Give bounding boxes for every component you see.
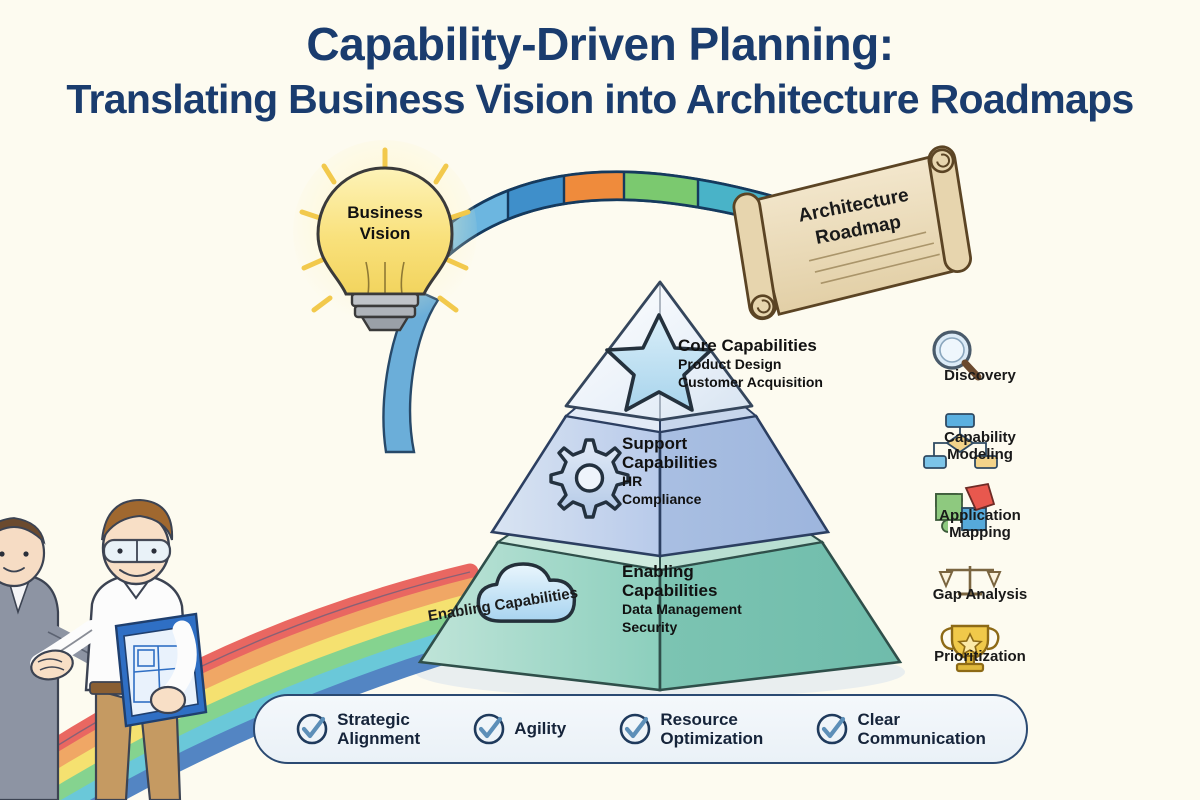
check-circle-icon — [815, 712, 849, 746]
benefit-strategic-alignment-line-2: Alignment — [337, 729, 420, 748]
check-circle-icon — [472, 712, 506, 746]
step-discovery[interactable]: Discovery — [890, 325, 1070, 385]
step-application-mapping-line-2: Mapping — [949, 524, 1011, 541]
tier-label-support: Support Capabilities HR Compliance — [622, 434, 772, 508]
tier-label-enabling: Enabling Capabilities Data Management Se… — [622, 562, 802, 636]
process-steps-list: Discovery Capability Modeling Applicatio… — [890, 325, 1070, 668]
poster-canvas: Capability-Driven Planning: Translating … — [0, 0, 1200, 800]
tier-heading-support-line-1: Support — [622, 434, 772, 453]
check-circle-icon — [618, 712, 652, 746]
tier-item-core-2: Customer Acquisition — [678, 374, 878, 391]
tier-item-core-1: Product Design — [678, 356, 878, 373]
tier-item-support-2: Compliance — [622, 491, 772, 508]
benefit-label-resource-optimization: Resource Optimization — [660, 710, 763, 748]
tier-heading-enabling-line-2: Capabilities — [622, 581, 802, 600]
benefit-resource-optimization-line-2: Optimization — [660, 729, 763, 748]
business-vision-line-1: Business — [347, 203, 423, 222]
tier-item-support-1: HR — [622, 473, 772, 490]
benefit-clear-communication[interactable]: Clear Communication — [815, 710, 985, 748]
architecture-roadmap-label-group: Architecture Roadmap — [726, 148, 976, 303]
benefit-resource-optimization-line-1: Resource — [660, 710, 737, 729]
benefits-bar: Strategic Alignment Agility Resource Opt… — [253, 694, 1028, 764]
step-prioritization[interactable]: Prioritization — [890, 606, 1070, 666]
gear-icon — [551, 440, 628, 517]
benefit-resource-optimization[interactable]: Resource Optimization — [618, 710, 763, 748]
step-label-application-mapping: Application Mapping — [939, 508, 1021, 542]
tier-heading-core: Core Capabilities — [678, 336, 878, 355]
business-vision-line-2: Vision — [360, 224, 411, 243]
benefit-clear-communication-line-1: Clear — [857, 710, 900, 729]
step-label-prioritization: Prioritization — [934, 649, 1026, 666]
step-prioritization-line-1: Prioritization — [934, 648, 1026, 665]
benefit-agility[interactable]: Agility — [472, 712, 566, 746]
benefit-agility-line-1: Agility — [514, 719, 566, 738]
tier-item-enabling-2: Security — [622, 619, 802, 636]
step-discovery-line-1: Discovery — [944, 367, 1016, 384]
check-circle-icon — [295, 712, 329, 746]
step-gap-analysis-line-1: Gap Analysis — [933, 586, 1027, 603]
architecture-roadmap-label: Architecture Roadmap — [763, 177, 949, 260]
safety-glasses-icon — [104, 540, 170, 562]
business-vision-label: Business Vision — [300, 202, 470, 245]
step-label-discovery: Discovery — [944, 368, 1016, 385]
step-gap-analysis[interactable]: Gap Analysis — [890, 544, 1070, 604]
tier-heading-support-line-2: Capabilities — [622, 453, 772, 472]
step-application-mapping-line-1: Application — [939, 507, 1021, 524]
step-capability-modeling-line-2: Modeling — [947, 446, 1013, 463]
step-application-mapping[interactable]: Application Mapping — [890, 465, 1070, 542]
step-capability-modeling[interactable]: Capability Modeling — [890, 387, 1070, 464]
tier-label-core: Core Capabilities Product Design Custome… — [678, 336, 878, 391]
business-vision-label-group: Business Vision — [300, 150, 470, 335]
step-capability-modeling-line-1: Capability — [944, 429, 1016, 446]
benefit-label-clear-communication: Clear Communication — [857, 710, 985, 748]
step-label-capability-modeling: Capability Modeling — [944, 430, 1016, 464]
tier-heading-enabling-line-1: Enabling — [622, 562, 802, 581]
benefit-clear-communication-line-2: Communication — [857, 729, 985, 748]
benefit-label-strategic-alignment: Strategic Alignment — [337, 710, 420, 748]
rainbow-arc — [0, 572, 490, 800]
benefit-strategic-alignment-line-1: Strategic — [337, 710, 410, 729]
tier-item-enabling-1: Data Management — [622, 601, 802, 618]
benefit-label-agility: Agility — [514, 719, 566, 738]
people-group — [0, 500, 206, 800]
benefit-strategic-alignment[interactable]: Strategic Alignment — [295, 710, 420, 748]
step-label-gap-analysis: Gap Analysis — [933, 587, 1027, 604]
